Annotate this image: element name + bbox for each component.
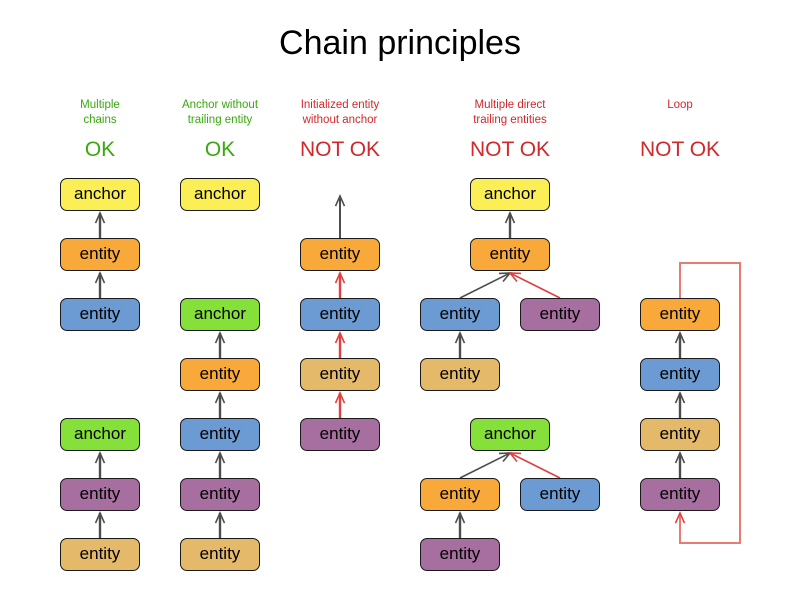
node-label: entity [80, 244, 121, 263]
node-entity[interactable]: entity [60, 298, 140, 331]
node-label: entity [200, 424, 241, 443]
node-anchor[interactable]: anchor [180, 178, 260, 211]
heading-line-1: Initialized entity [260, 98, 420, 113]
node-entity[interactable]: entity [640, 478, 720, 511]
node-entity[interactable]: entity [420, 478, 500, 511]
column-heading-initialized-entity-without-anchor: Initialized entity without anchor [260, 98, 420, 128]
node-label: anchor [484, 424, 536, 443]
node-label: anchor [194, 184, 246, 203]
node-label: entity [320, 244, 361, 263]
node-entity[interactable]: entity [180, 538, 260, 571]
node-label: entity [660, 424, 701, 443]
node-label: entity [80, 544, 121, 563]
verdict-initialized-entity-without-anchor: NOT OK [260, 138, 420, 162]
node-anchor[interactable]: anchor [60, 418, 140, 451]
node-entity[interactable]: entity [640, 298, 720, 331]
node-label: entity [200, 544, 241, 563]
node-entity[interactable]: entity [300, 238, 380, 271]
node-entity[interactable]: entity [520, 478, 600, 511]
node-label: entity [440, 544, 481, 563]
node-entity[interactable]: entity [60, 478, 140, 511]
node-entity[interactable]: entity [420, 298, 500, 331]
node-anchor[interactable]: anchor [470, 178, 550, 211]
column-heading-loop: Loop [600, 98, 760, 113]
node-label: entity [660, 484, 701, 503]
diagram-canvas: Chain principles Multiple chains OK Anch… [0, 0, 800, 600]
heading-line-2: trailing entities [430, 113, 590, 128]
node-label: entity [440, 364, 481, 383]
node-label: entity [540, 304, 581, 323]
node-label: anchor [484, 184, 536, 203]
node-anchor[interactable]: anchor [60, 178, 140, 211]
node-label: entity [80, 304, 121, 323]
node-label: entity [440, 304, 481, 323]
node-label: entity [200, 364, 241, 383]
node-entity[interactable]: entity [180, 478, 260, 511]
node-anchor[interactable]: anchor [470, 418, 550, 451]
node-label: entity [80, 484, 121, 503]
node-label: entity [320, 424, 361, 443]
node-entity[interactable]: entity [420, 358, 500, 391]
node-label: entity [320, 364, 361, 383]
node-entity[interactable]: entity [520, 298, 600, 331]
node-label: entity [490, 244, 531, 263]
node-label: entity [440, 484, 481, 503]
node-label: entity [660, 304, 701, 323]
heading-line-1: Loop [600, 98, 760, 113]
heading-line-2: without anchor [260, 113, 420, 128]
verdict-multiple-direct-trailing-entities: NOT OK [430, 138, 590, 162]
node-entity[interactable]: entity [640, 358, 720, 391]
node-entity[interactable]: entity [180, 418, 260, 451]
node-entity[interactable]: entity [470, 238, 550, 271]
node-label: entity [660, 364, 701, 383]
node-entity[interactable]: entity [640, 418, 720, 451]
node-label: anchor [194, 304, 246, 323]
page-title: Chain principles [0, 24, 800, 63]
verdict-loop: NOT OK [600, 138, 760, 162]
node-label: entity [540, 484, 581, 503]
node-entity[interactable]: entity [60, 538, 140, 571]
node-anchor[interactable]: anchor [180, 298, 260, 331]
node-label: anchor [74, 184, 126, 203]
node-entity[interactable]: entity [300, 418, 380, 451]
column-heading-multiple-direct-trailing-entities: Multiple direct trailing entities [430, 98, 590, 128]
node-entity[interactable]: entity [180, 358, 260, 391]
node-label: entity [200, 484, 241, 503]
node-entity[interactable]: entity [60, 238, 140, 271]
node-entity[interactable]: entity [420, 538, 500, 571]
node-label: entity [320, 304, 361, 323]
heading-line-1: Multiple direct [430, 98, 590, 113]
node-entity[interactable]: entity [300, 358, 380, 391]
node-entity[interactable]: entity [300, 298, 380, 331]
node-label: anchor [74, 424, 126, 443]
